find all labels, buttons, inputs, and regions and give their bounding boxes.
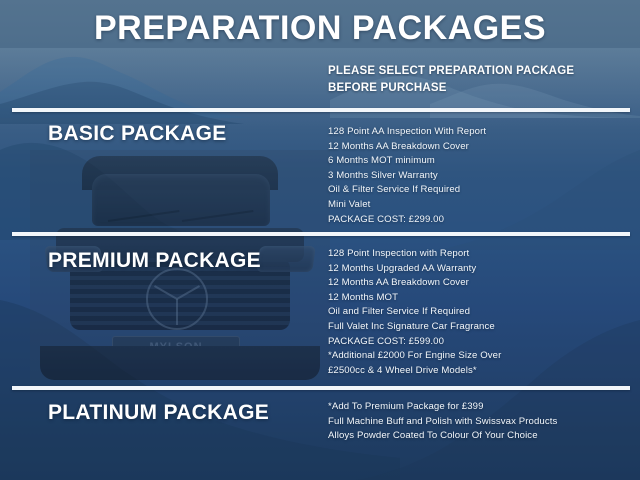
package-features-platinum: *Add To Premium Package for £399 Full Ma… (328, 400, 628, 444)
feature-item: 128 Point Inspection with Report (328, 247, 628, 262)
feature-item: 12 Months MOT (328, 291, 628, 306)
package-features-basic: 128 Point AA Inspection With Report 12 M… (328, 125, 628, 227)
premium-surcharge-note-line-2: £2500cc & 4 Wheel Drive Models* (328, 364, 628, 379)
feature-item: Oil & Filter Service If Required (328, 183, 628, 198)
selection-instruction: PLEASE SELECT PREPARATION PACKAGE BEFORE… (328, 63, 628, 97)
package-cost-premium: PACKAGE COST: £599.00 (328, 335, 628, 350)
feature-item: 12 Months AA Breakdown Cover (328, 276, 628, 291)
feature-item: 128 Point AA Inspection With Report (328, 125, 628, 140)
selection-instruction-line-1: PLEASE SELECT PREPARATION PACKAGE (328, 63, 628, 80)
feature-item: 3 Months Silver Warranty (328, 169, 628, 184)
feature-item: Full Machine Buff and Polish with Swissv… (328, 415, 628, 430)
platinum-price-note: *Add To Premium Package for £399 (328, 400, 628, 415)
feature-item: 12 Months AA Breakdown Cover (328, 140, 628, 155)
premium-surcharge-note-line-1: *Additional £2000 For Engine Size Over (328, 349, 628, 364)
divider-above-premium (12, 232, 630, 236)
package-name-premium: PREMIUM PACKAGE (48, 249, 261, 273)
feature-item: Mini Valet (328, 198, 628, 213)
package-features-premium: 128 Point Inspection with Report 12 Mont… (328, 247, 628, 378)
selection-instruction-line-2: BEFORE PURCHASE (328, 80, 628, 97)
feature-item: Oil and Filter Service If Required (328, 305, 628, 320)
preparation-packages-poster: MYLSON PREPARATION PACKAGES PLEASE SELEC… (0, 0, 640, 480)
feature-item: 12 Months Upgraded AA Warranty (328, 262, 628, 277)
package-name-basic: BASIC PACKAGE (48, 122, 227, 146)
package-cost-basic: PACKAGE COST: £299.00 (328, 213, 628, 228)
page-title: PREPARATION PACKAGES (0, 8, 640, 48)
package-name-platinum: PLATINUM PACKAGE (48, 401, 269, 425)
divider-above-basic (12, 108, 630, 112)
feature-item: Alloys Powder Coated To Colour Of Your C… (328, 429, 628, 444)
feature-item: Full Valet Inc Signature Car Fragrance (328, 320, 628, 335)
feature-item: 6 Months MOT minimum (328, 154, 628, 169)
divider-above-platinum (12, 386, 630, 390)
